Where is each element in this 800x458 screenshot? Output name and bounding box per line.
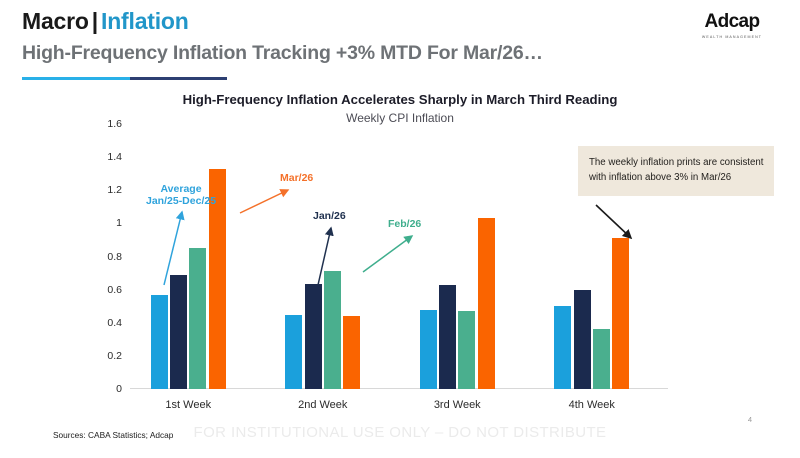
annotation-feb26: Feb/26	[388, 218, 421, 230]
bar-average-jan-25-dec-25[interactable]	[285, 315, 302, 389]
page-subtitle: High-Frequency Inflation Tracking +3% MT…	[22, 42, 543, 65]
header-rule-segment-right	[130, 77, 227, 80]
y-axis-tick-label: 0.2	[107, 350, 122, 362]
bar-mar-26[interactable]	[343, 316, 360, 389]
brand-logo-wordmark: Adcap	[682, 12, 782, 31]
bar-average-jan-25-dec-25[interactable]	[151, 295, 168, 389]
chart-title: High-Frequency Inflation Accelerates Sha…	[0, 92, 800, 107]
brand-logo-tagline: wealth management	[682, 35, 782, 39]
y-axis-tick-label: 1.2	[107, 184, 122, 196]
x-axis-tick-label: 2nd Week	[298, 399, 347, 411]
slide: Macro|Inflation High-Frequency Inflation…	[0, 0, 800, 458]
y-axis-tick-label: 1	[116, 217, 122, 229]
page-title: Macro|Inflation	[22, 8, 189, 35]
bar-jan-26[interactable]	[170, 275, 187, 389]
bar-jan-26[interactable]	[305, 284, 322, 389]
x-axis-tick-label: 3rd Week	[434, 399, 481, 411]
brand-logo: Adcap wealth management	[682, 12, 782, 39]
header-rule	[22, 77, 227, 80]
y-axis-tick-label: 0.4	[107, 317, 122, 329]
bar-feb-26[interactable]	[189, 248, 206, 389]
y-axis-tick-label: 0.6	[107, 284, 122, 296]
callout-box: The weekly inflation prints are consiste…	[578, 146, 774, 196]
bar-average-jan-25-dec-25[interactable]	[420, 310, 437, 389]
y-axis-tick-label: 1.4	[107, 151, 122, 163]
sources-label: Sources: CABA Statistics; Adcap	[53, 430, 173, 440]
page-title-accent: Inflation	[101, 8, 189, 34]
bar-feb-26[interactable]	[593, 329, 610, 389]
page-number: 4	[748, 415, 752, 424]
bar-group	[151, 124, 226, 389]
y-axis-tick-label: 1.6	[107, 118, 122, 130]
bar-group	[420, 124, 495, 389]
bar-group	[285, 124, 360, 389]
page-title-main: Macro	[22, 8, 89, 34]
bar-jan-26[interactable]	[574, 290, 591, 389]
y-axis-tick-label: 0.8	[107, 251, 122, 263]
x-axis-tick-label: 1st Week	[165, 399, 211, 411]
x-axis-tick-label: 4th Week	[569, 399, 615, 411]
bar-mar-26[interactable]	[612, 238, 629, 389]
page-title-separator: |	[92, 8, 98, 34]
y-axis-tick-label: 0	[116, 383, 122, 395]
annotation-mar26: Mar/26	[280, 172, 313, 184]
bar-feb-26[interactable]	[324, 271, 341, 389]
annotation-jan26: Jan/26	[313, 210, 346, 222]
bar-average-jan-25-dec-25[interactable]	[554, 306, 571, 389]
bar-mar-26[interactable]	[478, 218, 495, 389]
annotation-average: Average Jan/25-Dec/25	[146, 183, 216, 208]
chart: High-Frequency Inflation Accelerates Sha…	[0, 92, 800, 412]
header-rule-segment-left	[22, 77, 130, 80]
bar-feb-26[interactable]	[458, 311, 475, 389]
bar-jan-26[interactable]	[439, 285, 456, 389]
